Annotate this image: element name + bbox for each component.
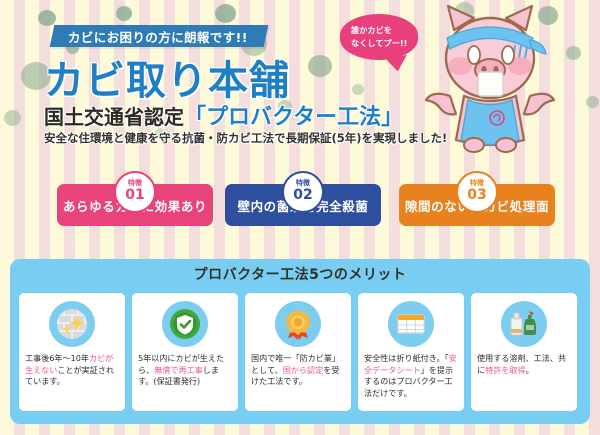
merit-card-text: 使用する溶剤、工法、共に特許を取得。: [477, 353, 571, 376]
merit-text-pre: 安全性は折り紙付き。「: [364, 353, 449, 363]
solvent-bottles-icon: [501, 301, 547, 347]
merit-text-pre: 工事後6年〜10年: [25, 353, 89, 363]
mascot-speech-bubble: 誰かカビを なくしてプー!!: [340, 14, 418, 60]
bubble-line-2: なくしてプー!!: [351, 37, 418, 50]
feature-number-circle-02: 特徴 02: [282, 171, 324, 213]
sub-title-method: 「プロバクター工法」: [184, 105, 403, 130]
merit-card-text: 工事後6年〜10年カビが生えないことが実証されています。: [25, 353, 119, 388]
feature-badge-row: 特徴 01 あらゆるカビに効果あり 特徴 02 壁内の菌糸を完全殺菌 特徴 03…: [0, 170, 600, 235]
page-title: カビ取り本舗: [44, 48, 290, 106]
feature-badge-label-03: 特徴: [470, 180, 484, 187]
merits-panel: プロバクター工法5つのメリット: [10, 259, 590, 424]
bubble-line-1: 誰かカビを: [351, 24, 418, 37]
feature-badge-number-02: 02: [293, 187, 312, 203]
feature-badge-03[interactable]: 特徴 03 隙間のない防カビ処理面: [399, 184, 555, 226]
merit-card-text: 国内で唯一「防カビ業」として、国から認定を受けた工法です。: [251, 353, 345, 388]
feature-number-circle-03: 特徴 03: [456, 171, 498, 213]
feature-number-circle-01: 特徴 01: [114, 171, 156, 213]
feature-badge-number-01: 01: [125, 187, 144, 203]
pig-mascot-icon: [420, 0, 560, 155]
feature-badge-label-02: 特徴: [296, 180, 310, 187]
merit-text-highlight: 特許を取得: [485, 365, 525, 375]
lead-text: 安全な住環境と健康を守る抗菌・防カビ工法で長期保証(5年)を実現しました!: [44, 130, 447, 146]
ribbon-text: カビにお困りの方に朗報です!!: [68, 27, 248, 46]
sub-title-certification: 国土交通省認定: [44, 105, 184, 129]
merit-card-text: 5年以内にカビが生えたら、無償で再工事します。(保証書発行): [138, 353, 232, 388]
feature-badge-02[interactable]: 特徴 02 壁内の菌糸を完全殺菌: [225, 184, 381, 226]
feature-badge-01[interactable]: 特徴 01 あらゆるカビに効果あり: [57, 184, 213, 226]
sub-title: 国土交通省認定「プロバクター工法」: [44, 99, 403, 131]
gold-award-ribbon-icon: [275, 301, 321, 347]
green-shield-check-icon: [162, 301, 208, 347]
merits-panel-title: プロバクター工法5つのメリット: [10, 259, 590, 289]
merit-card-list: 工事後6年〜10年カビが生えないことが実証されています。 5年以内にカビが生えた…: [19, 293, 581, 411]
merit-card[interactable]: 使用する溶剤、工法、共に特許を取得。: [471, 293, 577, 411]
merit-card[interactable]: 国内で唯一「防カビ業」として、国から認定を受けた工法です。: [245, 293, 351, 411]
brick-wall-sparkle-icon: [49, 301, 95, 347]
merit-text-post: 。: [526, 365, 534, 375]
merit-text-highlight: 国から認定: [283, 365, 323, 375]
document-table-icon: [388, 301, 434, 347]
landing-page: カビにお困りの方に朗報です!! カビ取り本舗 国土交通省認定「プロバクター工法」…: [0, 0, 600, 435]
merit-text-highlight: 無償で再工事: [154, 365, 203, 375]
feature-badge-label-01: 特徴: [128, 180, 142, 187]
merit-card-text: 安全性は折り紙付き。「安全データシート」を提示するのはプロバクター工法だけです。: [364, 353, 458, 400]
merit-card[interactable]: 5年以内にカビが生えたら、無償で再工事します。(保証書発行): [132, 293, 238, 411]
announcement-ribbon: カビにお困りの方に朗報です!!: [50, 25, 269, 47]
feature-badge-number-03: 03: [467, 187, 486, 203]
merit-card[interactable]: 工事後6年〜10年カビが生えないことが実証されています。: [19, 293, 125, 411]
merit-card[interactable]: 安全性は折り紙付き。「安全データシート」を提示するのはプロバクター工法だけです。: [358, 293, 464, 411]
